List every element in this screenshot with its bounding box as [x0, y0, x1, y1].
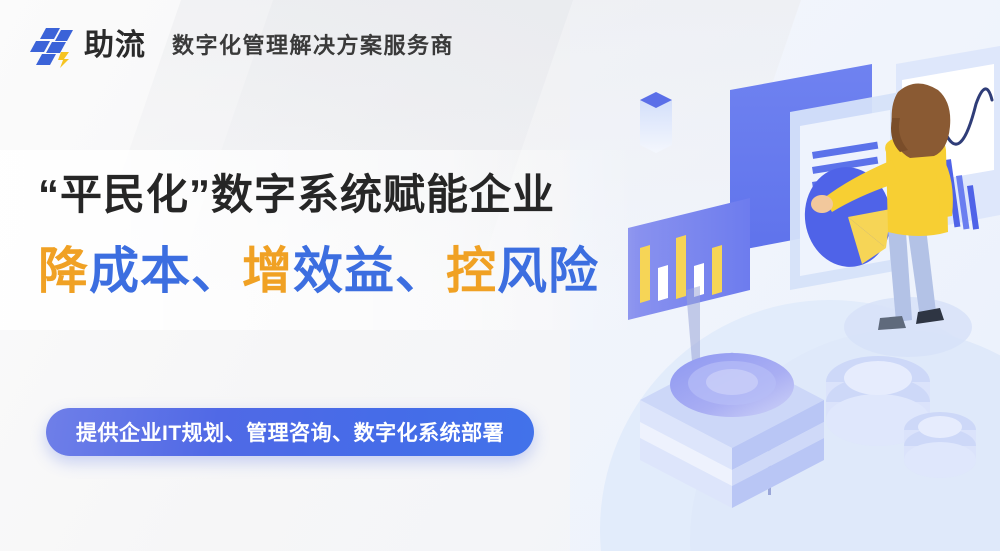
headline-part-5: 控	[446, 243, 497, 299]
brand-header: 助流 数字化管理解决方案服务商	[30, 24, 454, 68]
headline-part-1: 降	[38, 243, 89, 299]
database-coins-icon	[826, 356, 976, 478]
small-pillar-icon	[640, 92, 672, 153]
brand-tagline: 数字化管理解决方案服务商	[172, 35, 454, 57]
headline-part-2: 成本、	[89, 243, 242, 299]
promo-banner: 助流 数字化管理解决方案服务商 “平民化”数字系统赋能企业 降成本、增效益、控风…	[0, 0, 1000, 551]
zhuliu-logo-icon	[30, 24, 76, 68]
cta-button[interactable]: 提供企业IT规划、管理咨询、数字化系统部署	[46, 408, 534, 456]
headline-part-4: 效益、	[293, 243, 446, 299]
server-stack-icon	[640, 352, 824, 508]
page-title: “平民化”数字系统赋能企业	[38, 172, 555, 218]
brand-name: 助流	[84, 31, 146, 61]
headline-part-6: 风险	[497, 243, 599, 299]
headline-part-3: 增	[242, 243, 293, 299]
isometric-data-analytics-illustration	[600, 0, 1000, 551]
page-subtitle: 降成本、增效益、控风险	[38, 244, 599, 299]
